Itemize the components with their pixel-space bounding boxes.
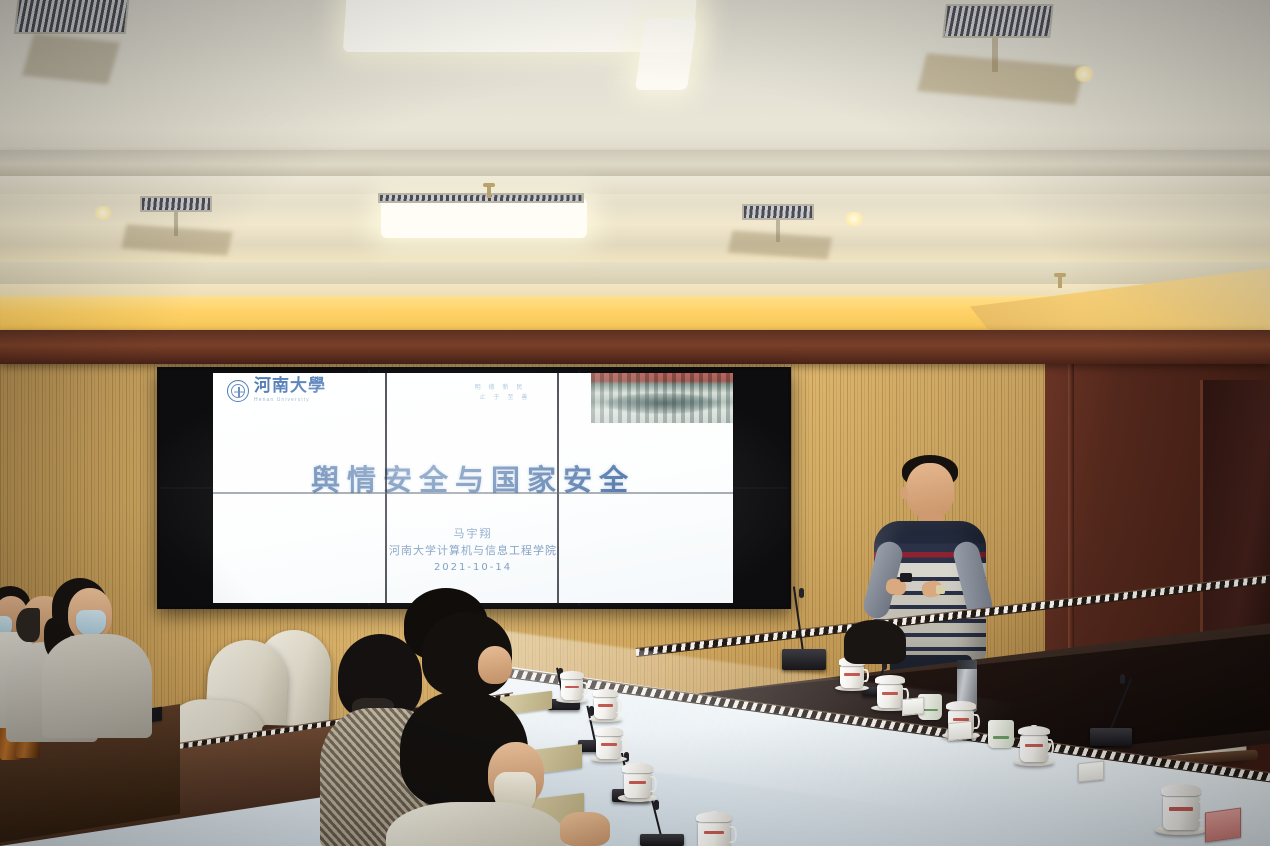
vent-shadow (728, 231, 833, 260)
cup-logo (1169, 807, 1192, 811)
university-motto: 明 德 新 民 止 于 至 善 (445, 383, 555, 403)
microphone-head (799, 588, 804, 598)
gooseneck-microphone[interactable] (782, 588, 826, 670)
head (478, 646, 512, 684)
lid-knob (1178, 783, 1184, 785)
cup-body (596, 735, 621, 759)
cup-lid (622, 763, 652, 772)
lid-knob (1031, 725, 1036, 727)
cup-logo (598, 704, 613, 707)
video-wall[interactable]: 河南大學 Henan University 明 德 新 民 止 于 至 善 舆情… (157, 367, 791, 609)
university-logo: 河南大學 Henan University (227, 378, 326, 403)
cup-body (594, 697, 617, 719)
conference-room-photo: 河南大學 Henan University 明 德 新 民 止 于 至 善 舆情… (0, 0, 1270, 846)
teacup-with-lid[interactable] (1163, 782, 1199, 830)
presenter-ear (900, 487, 908, 499)
teacup-with-lid[interactable] (596, 726, 621, 759)
cup-handle (620, 739, 627, 753)
cup-body (988, 720, 1014, 748)
vent-shadow (121, 224, 232, 255)
vent-shadow (22, 33, 120, 84)
microphone-base (1090, 728, 1132, 746)
torso (42, 634, 152, 738)
cup-lid (1018, 726, 1049, 736)
recessed-downlight (1072, 66, 1096, 82)
university-name-cn: 河南大學 (254, 378, 326, 395)
microphone-head (654, 800, 659, 810)
audience-member (844, 620, 908, 680)
panel-bezel (557, 373, 559, 603)
lid-knob (603, 689, 607, 690)
wristwatch (936, 585, 945, 594)
name-card[interactable] (948, 721, 972, 742)
lid-knob (570, 671, 574, 672)
recessed-downlight (92, 206, 114, 220)
cup-logo (565, 686, 579, 689)
cup-logo (1025, 744, 1043, 747)
motto-line-1: 明 德 新 民 (475, 384, 526, 391)
thermos-cap (957, 660, 977, 669)
teacup-with-lid[interactable] (698, 810, 730, 846)
hair (16, 608, 40, 642)
teacup-with-lid[interactable] (561, 670, 583, 700)
university-name-en: Henan University (254, 397, 326, 403)
cup-handle (729, 826, 737, 843)
ceiling-soffit-band (0, 262, 1270, 284)
ceiling-air-vent (942, 4, 1054, 38)
ceiling-air-vent (14, 0, 130, 34)
ceiling-soffit-band (0, 176, 1270, 194)
motto-line-2: 止 于 至 善 (455, 393, 555, 403)
hand (560, 812, 610, 846)
cup-handle (973, 714, 980, 729)
audience-hand (560, 812, 610, 846)
gooseneck-microphone[interactable] (1090, 676, 1132, 746)
ceiling-soffit-band (0, 150, 1270, 176)
university-gate-photo (591, 373, 733, 423)
cup-logo (993, 736, 1010, 739)
hair (844, 620, 906, 664)
panel-bezel (385, 373, 387, 603)
name-card[interactable] (902, 697, 924, 716)
recessed-downlight (842, 212, 866, 226)
gooseneck-microphone[interactable] (640, 800, 684, 846)
university-seal-icon (227, 380, 249, 402)
microphone-neck (1109, 678, 1132, 731)
sprinkler-head (487, 186, 491, 198)
cup-handle (582, 682, 588, 695)
cup-body (1163, 795, 1199, 830)
ceiling-air-vent (378, 193, 584, 203)
panel-bezel (213, 492, 733, 494)
cup-handle (650, 776, 657, 791)
cup-lid (1161, 784, 1201, 796)
cup-body (561, 678, 583, 700)
cup-logo (922, 709, 937, 712)
face-mask (76, 610, 106, 636)
sprinkler-head (1058, 276, 1062, 288)
presentation-slide: 河南大學 Henan University 明 德 新 民 止 于 至 善 舆情… (213, 373, 733, 603)
name-card-pink[interactable] (1205, 807, 1241, 842)
torso (386, 802, 566, 846)
microphone-base (640, 834, 684, 846)
vent-shadow (917, 53, 1084, 105)
suspended-ceiling (0, 0, 1270, 340)
cup-body (877, 684, 903, 708)
cup-lid (696, 812, 732, 822)
cup-logo (601, 743, 617, 746)
audience-member (390, 690, 560, 846)
cup-logo (882, 692, 899, 695)
cup-lid (946, 701, 975, 710)
teacup-with-lid[interactable] (594, 688, 617, 719)
cup-lid (593, 689, 619, 697)
name-card[interactable] (1078, 761, 1104, 783)
lid-knob (959, 701, 964, 702)
presenter-name: 马宇翔 (213, 525, 733, 542)
teacup-with-lid[interactable] (624, 762, 651, 798)
slide-subtitle-block: 马宇翔 河南大学计算机与信息工程学院 2021-10-14 (213, 525, 733, 576)
lid-knob (635, 763, 640, 764)
cup-logo (629, 781, 646, 784)
cup-lid (595, 727, 623, 736)
presenter-head (906, 463, 954, 519)
lid-knob (606, 727, 610, 728)
u-shaped-conference-table (0, 600, 1270, 846)
lid-knob (711, 811, 717, 813)
microphone-head (1120, 674, 1125, 684)
presentation-clicker[interactable] (900, 573, 912, 582)
presentation-date: 2021-10-14 (213, 559, 733, 576)
wood-valance (0, 330, 1270, 364)
microphone-base (782, 649, 826, 670)
cup-logo (704, 831, 724, 835)
audience-member (48, 578, 144, 738)
ceiling-light-panel (635, 18, 697, 90)
cup-body (1020, 735, 1048, 762)
ceiling-light-panel (381, 198, 587, 238)
presenter-affiliation: 河南大学计算机与信息工程学院 (213, 542, 733, 559)
teacup-no-lid[interactable] (988, 716, 1014, 748)
cup-body (624, 772, 651, 798)
cup-lid (560, 671, 585, 679)
teacup-with-lid[interactable] (1020, 724, 1048, 762)
